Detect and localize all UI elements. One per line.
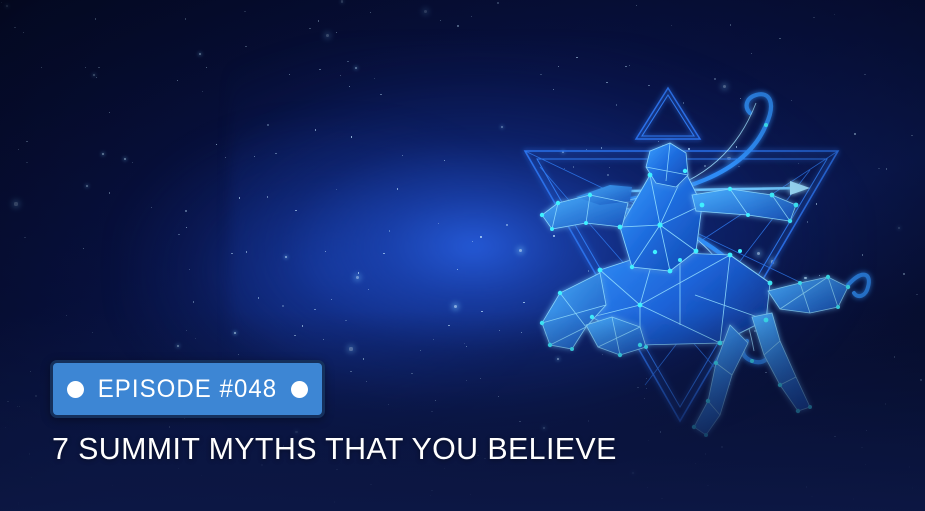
episode-badge[interactable]: EPISODE #048 bbox=[50, 360, 325, 418]
episode-badge-label: EPISODE #048 bbox=[98, 377, 277, 402]
dot-icon-right bbox=[291, 381, 308, 398]
episode-title: 7 SUMMIT MYTHS THAT YOU BELIEVE bbox=[52, 432, 617, 466]
episode-cover-canvas: EPISODE #048 7 SUMMIT MYTHS THAT YOU BEL… bbox=[0, 0, 925, 511]
dot-icon-left bbox=[67, 381, 84, 398]
